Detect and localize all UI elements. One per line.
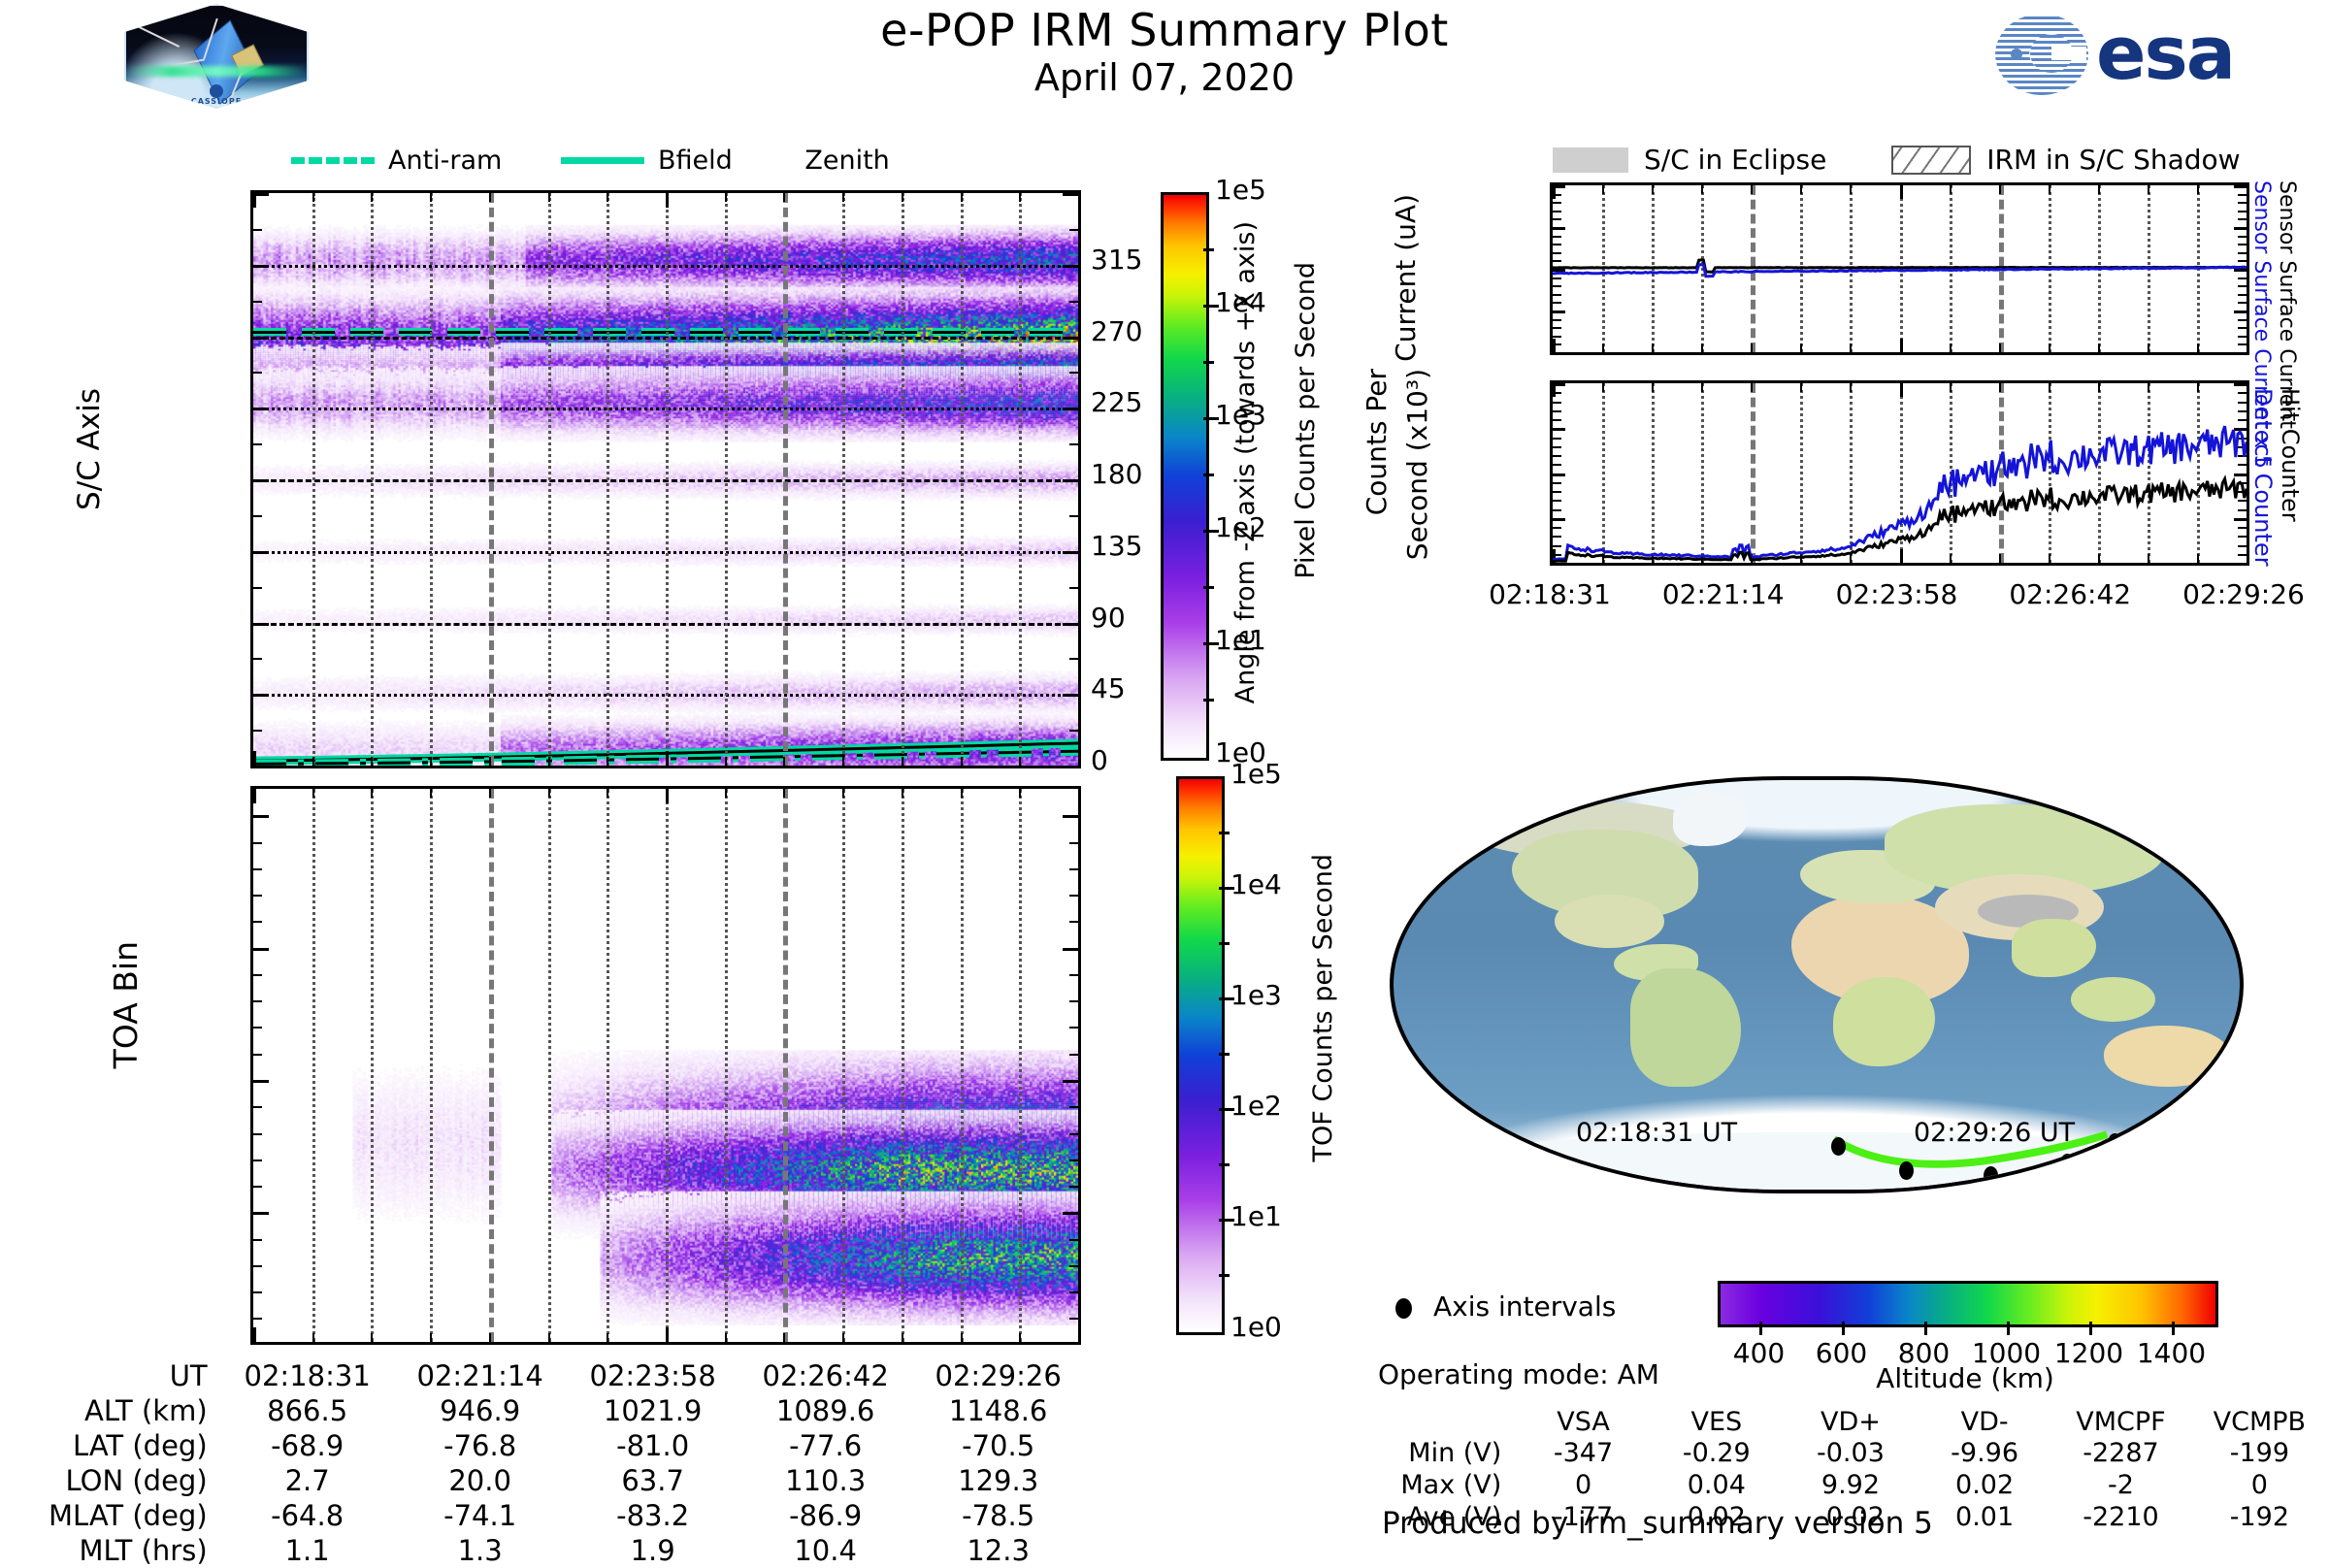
table-cell: -76.8 xyxy=(394,1428,567,1463)
table-cell: -68.9 xyxy=(221,1428,394,1463)
axis-tick xyxy=(253,1327,256,1342)
axis-tick xyxy=(1063,551,1078,554)
hatched-fill-icon xyxy=(1891,146,1971,175)
grid-line xyxy=(430,193,433,766)
table-cell: -2210 xyxy=(2051,1501,2190,1533)
counts-ylabel-2: Second (x10³) xyxy=(1401,369,1433,560)
axis-tick xyxy=(548,789,550,798)
table-cell: 1.9 xyxy=(567,1533,739,1568)
table-cell: -86.9 xyxy=(739,1498,912,1533)
altitude-tick xyxy=(1842,1322,1845,1335)
axis-tick xyxy=(1063,337,1078,340)
axis-tick-minor xyxy=(1069,372,1078,374)
axis-tick xyxy=(783,757,785,766)
table-row: UT02:18:3102:21:1402:23:5802:26:4202:29:… xyxy=(49,1358,1085,1393)
axis-tick xyxy=(430,789,432,798)
pixel-colorbar-tick-label: 1e1 xyxy=(1215,624,1266,656)
altitude-colorbar-title: Altitude (km) xyxy=(1718,1362,2213,1394)
axis-tick xyxy=(1019,757,1021,766)
grid-line xyxy=(666,193,669,766)
grid-line xyxy=(842,193,845,766)
grid-line xyxy=(312,789,315,1342)
table-cell: -2287 xyxy=(2051,1437,2190,1469)
axis-tick-minor xyxy=(1069,229,1078,231)
esa-wordmark: esa xyxy=(2096,10,2234,96)
table-cell: 2.7 xyxy=(221,1463,394,1498)
table-cell: 02:23:58 xyxy=(567,1358,739,1393)
colorbar-tick-minor xyxy=(1219,832,1230,834)
row-label: MLAT (deg) xyxy=(49,1498,221,1533)
dashed-line-icon xyxy=(291,157,375,164)
colorbar-tick xyxy=(1203,305,1219,308)
axis-tick-minor xyxy=(253,868,262,870)
axis-tick-minor xyxy=(1069,443,1078,445)
colorbar-tick xyxy=(1219,1108,1234,1111)
colorbar-tick xyxy=(1203,530,1219,533)
orbit-track xyxy=(1394,780,2240,1190)
table-cell: -77.6 xyxy=(739,1428,912,1463)
axis-tick-minor xyxy=(253,1186,262,1188)
axis-tick xyxy=(253,948,269,951)
column-header: VCMPB xyxy=(2190,1407,2329,1437)
axis-tick-minor xyxy=(1069,1239,1078,1241)
axis-tick xyxy=(842,193,844,202)
legend-label: Zenith xyxy=(804,146,889,176)
track-point xyxy=(1831,1137,1846,1156)
axis-tick xyxy=(666,1327,669,1342)
axis-tick xyxy=(1019,1333,1021,1342)
page-subtitle: April 07, 2020 xyxy=(0,56,2329,99)
table-cell: 20.0 xyxy=(394,1463,567,1498)
grid-line xyxy=(783,193,788,766)
axis-tick xyxy=(548,1333,550,1342)
produced-by-footer: Produced by irm_summary version 5 xyxy=(1382,1506,1933,1541)
row-label: MLT (hrs) xyxy=(49,1533,221,1568)
axis-tick-minor xyxy=(1069,301,1078,303)
row-label: UT xyxy=(49,1358,221,1393)
axis-tick-minor xyxy=(253,1000,262,1002)
axis-tick xyxy=(783,789,785,798)
table-cell: 63.7 xyxy=(567,1463,739,1498)
axis-tick xyxy=(1063,408,1078,410)
grid-line xyxy=(548,789,551,1342)
axis-tick xyxy=(842,757,844,766)
axis-tick xyxy=(253,479,269,482)
axis-tick-minor xyxy=(1069,1000,1078,1002)
colorbar-tick-minor xyxy=(1219,1053,1230,1056)
ephemeris-table: UT02:18:3102:21:1402:23:5802:26:4202:29:… xyxy=(49,1358,1085,1568)
axis-tick xyxy=(430,1333,432,1342)
table-row: MLAT (deg)-64.8-74.1-83.2-86.9-78.5 xyxy=(49,1498,1085,1533)
axis-tick xyxy=(1063,1212,1078,1215)
tof-colorbar-tick-label: 1e1 xyxy=(1230,1200,1282,1232)
axis-tick-minor xyxy=(1069,1133,1078,1135)
axis-tick xyxy=(725,1333,727,1342)
colorbar-tick-minor xyxy=(1219,1163,1230,1166)
axis-tick xyxy=(489,789,491,798)
axis-tick xyxy=(548,757,550,766)
legend-label: IRM in S/C Shadow xyxy=(1986,144,2240,176)
series-plot xyxy=(1553,383,2247,563)
axis-tick xyxy=(253,337,269,340)
table-cell: -2 xyxy=(2051,1469,2190,1501)
axis-tick xyxy=(1063,193,1078,196)
colorbar-tick xyxy=(1203,642,1219,645)
axis-tick xyxy=(1063,948,1078,951)
counts-ylabel-line2: Second (x10³) xyxy=(1401,369,1433,560)
axis-tick xyxy=(1063,623,1078,626)
tof-counts-colorbar-title: TOF Counts per Second xyxy=(1308,854,1338,1162)
axis-tick-minor xyxy=(253,1265,262,1267)
table-cell: -78.5 xyxy=(912,1498,1085,1533)
table-cell: -81.0 xyxy=(567,1428,739,1463)
colorbar-tick xyxy=(1219,1219,1234,1222)
axis-tick-minor xyxy=(253,658,262,660)
table-cell: 1.3 xyxy=(394,1533,567,1568)
axis-tick-minor xyxy=(253,301,262,303)
axis-tick xyxy=(1019,193,1021,202)
axis-tick xyxy=(1063,1080,1078,1083)
axis-tick xyxy=(666,751,669,766)
axis-tick-minor xyxy=(1069,1265,1078,1267)
axis-tick-minor xyxy=(253,1318,262,1320)
grid-line xyxy=(371,789,374,1342)
axis-tick xyxy=(312,757,314,766)
axis-tick xyxy=(312,193,314,202)
altitude-tick xyxy=(1759,1322,1762,1335)
axis-tick xyxy=(1019,789,1021,798)
axis-tick xyxy=(607,757,608,766)
axis-tick xyxy=(783,1333,785,1342)
axis-tick-minor xyxy=(1069,1106,1078,1108)
grid-line xyxy=(607,789,609,1342)
grid-line xyxy=(902,193,904,766)
axis-tick xyxy=(1078,193,1081,208)
colorbar-tick-minor xyxy=(1203,248,1214,251)
axis-overlay-legend: Anti-ram Bfield Zenith xyxy=(291,144,940,176)
eclipse-shadow-legend: S/C in Eclipse IRM in S/C Shadow xyxy=(1553,142,2297,176)
angle-axis-tick-label: 45 xyxy=(1091,672,1126,704)
axis-tick xyxy=(725,789,727,798)
logo-wordmark: CASSIOPE xyxy=(126,97,307,106)
axis-tick xyxy=(725,193,727,202)
axis-tick-minor xyxy=(253,229,262,231)
axis-tick xyxy=(961,1333,963,1342)
axis-tick-minor xyxy=(253,921,262,923)
axis-tick xyxy=(253,623,269,626)
axis-tick xyxy=(842,1333,844,1342)
table-cell: 02:29:26 xyxy=(912,1358,1085,1393)
grid-line xyxy=(548,193,551,766)
table-cell: -64.8 xyxy=(221,1498,394,1533)
table-row: MLT (hrs)1.11.31.910.412.3 xyxy=(49,1533,1085,1568)
counts-xtick-label: 02:23:58 xyxy=(1836,578,1958,610)
table-cell: 0.04 xyxy=(1650,1469,1784,1501)
axis-tick-minor xyxy=(253,1133,262,1135)
angle-axis-tick-label: 0 xyxy=(1091,744,1108,776)
axis-tick xyxy=(253,789,256,803)
sc-axis-ylabel: S/C Axis xyxy=(72,388,107,510)
axis-tick xyxy=(2234,563,2247,566)
toa-bin-spectrogram-panel[interactable] xyxy=(250,786,1081,1345)
axis-tick-minor xyxy=(253,1239,262,1241)
axis-tick xyxy=(725,757,727,766)
legend-label: Anti-ram xyxy=(388,146,502,176)
axis-tick xyxy=(489,1333,491,1342)
angle-axis-tick-label: 180 xyxy=(1091,458,1142,490)
grid-line xyxy=(607,193,609,766)
colorbar-tick xyxy=(1219,997,1234,1000)
axis-tick-minor xyxy=(253,1160,262,1161)
axis-tick xyxy=(607,789,608,798)
track-point xyxy=(1899,1161,1914,1180)
row-label: LAT (deg) xyxy=(49,1428,221,1463)
axis-tick xyxy=(253,694,269,697)
axis-tick xyxy=(1078,751,1081,766)
table-cell: 0 xyxy=(1517,1469,1649,1501)
grid-line xyxy=(430,789,433,1342)
legend-item-irm-shadow: IRM in S/C Shadow xyxy=(1891,143,2240,177)
tof-colorbar-tick-label: 1e2 xyxy=(1230,1090,1282,1122)
counts-ylabel: Counts Per xyxy=(1362,369,1392,515)
grid-line xyxy=(902,789,904,1342)
axis-tick xyxy=(902,1333,903,1342)
axis-tick xyxy=(1078,789,1081,803)
legend-item-sc-eclipse: S/C in Eclipse xyxy=(1553,143,1826,177)
axis-tick-minor xyxy=(253,974,262,976)
legend-label: S/C in Eclipse xyxy=(1644,144,1826,176)
axis-tick-minor xyxy=(253,587,262,589)
table-cell: -199 xyxy=(2190,1437,2329,1469)
axis-tick xyxy=(253,408,269,410)
axis-tick-minor xyxy=(1069,842,1078,844)
axis-tick xyxy=(253,551,269,554)
sc-axis-spectrogram-panel[interactable] xyxy=(250,190,1081,768)
table-cell: 110.3 xyxy=(739,1463,912,1498)
axis-tick xyxy=(1063,815,1078,818)
angle-axis-tick-label: 270 xyxy=(1091,315,1142,347)
axis-tick xyxy=(2234,352,2247,355)
map-legend-axis-intervals: Axis intervals xyxy=(1395,1290,1616,1323)
toa-bin-ylabel: TOA Bin xyxy=(107,941,145,1068)
axis-tick-minor xyxy=(1069,587,1078,589)
tof-counts-colorbar xyxy=(1176,776,1225,1335)
axis-tick-minor xyxy=(1069,895,1078,897)
axis-tick-minor xyxy=(1069,658,1078,660)
page-title: e-POP IRM Summary Plot xyxy=(0,4,2329,56)
legend-item-anti-ram: Anti-ram xyxy=(291,145,502,176)
axis-tick-minor xyxy=(1069,1291,1078,1293)
table-cell: 129.3 xyxy=(912,1463,1085,1498)
table-cell: 0 xyxy=(2190,1469,2329,1501)
axis-tick xyxy=(371,757,373,766)
axis-tick-minor xyxy=(253,1027,262,1029)
axis-tick-minor xyxy=(253,895,262,897)
axis-tick xyxy=(1063,265,1078,268)
axis-tick-minor xyxy=(253,730,262,732)
pixel-colorbar-tick-label: 1e2 xyxy=(1215,511,1266,543)
counts-xtick-label: 02:29:26 xyxy=(2182,578,2305,610)
current-ylabel: Current (uA) xyxy=(1390,194,1422,362)
axis-tick xyxy=(902,789,903,798)
axis-tick xyxy=(548,193,550,202)
grid-line xyxy=(312,193,315,766)
counts-xtick-label: 02:18:31 xyxy=(1489,578,1611,610)
axis-tick-minor xyxy=(1069,1054,1078,1056)
column-header: VSA xyxy=(1517,1407,1649,1437)
column-header: VD+ xyxy=(1784,1407,1918,1437)
solid-line-icon xyxy=(561,157,644,164)
track-point xyxy=(1984,1166,1998,1185)
row-label: LON (deg) xyxy=(49,1463,221,1498)
axis-tick xyxy=(961,757,963,766)
grid-line xyxy=(1019,193,1022,766)
altitude-tick xyxy=(2172,1322,2175,1335)
track-point xyxy=(2060,1154,2075,1172)
legend-item-bfield: Bfield xyxy=(561,145,733,176)
axis-tick xyxy=(1553,563,1565,566)
column-header: VD- xyxy=(1918,1407,2051,1437)
table-cell: 02:21:14 xyxy=(394,1358,567,1393)
tof-colorbar-tick-label: 1e4 xyxy=(1230,868,1282,900)
axis-tick xyxy=(1063,766,1078,768)
axis-tick xyxy=(253,265,269,268)
table-cell: 866.5 xyxy=(221,1393,394,1428)
series-plot xyxy=(1553,185,2247,352)
axis-tick-minor xyxy=(253,842,262,844)
grid-line xyxy=(842,789,845,1342)
legend-item-zenith: Zenith xyxy=(791,145,889,176)
axis-tick xyxy=(902,757,903,766)
table-cell: 1089.6 xyxy=(739,1393,912,1428)
table-cell: 0.01 xyxy=(1918,1501,2051,1533)
grey-fill-icon xyxy=(1553,147,1628,173)
axis-tick-minor xyxy=(1069,1186,1078,1188)
axis-tick xyxy=(253,1342,269,1345)
esa-logo: esa xyxy=(1991,8,2282,101)
grid-line xyxy=(725,789,728,1342)
colorbar-tick-minor xyxy=(1203,474,1214,476)
table-cell: 0.02 xyxy=(1918,1469,2051,1501)
axis-tick xyxy=(312,1333,314,1342)
table-cell: 9.92 xyxy=(1784,1469,1918,1501)
grid-line xyxy=(725,193,728,766)
counts-xtick-label: 02:21:14 xyxy=(1662,578,1785,610)
axis-tick xyxy=(371,1333,373,1342)
table-cell: 946.9 xyxy=(394,1393,567,1428)
counts-right-caption-blue: Detect Counter xyxy=(2249,388,2277,567)
track-end-label: 02:29:26 UT xyxy=(1914,1118,2075,1148)
altitude-tick xyxy=(1924,1322,1927,1335)
grid-line xyxy=(489,193,494,766)
column-header: VMCPF xyxy=(2051,1407,2190,1437)
table-cell: -0.03 xyxy=(1784,1437,1918,1469)
axis-tick-minor xyxy=(253,1291,262,1293)
pixel-colorbar-tick-label: 1e3 xyxy=(1215,399,1266,431)
grid-line xyxy=(1019,789,1022,1342)
pixel-colorbar-tick-label: 1e5 xyxy=(1215,174,1266,206)
operating-mode-text: Operating mode: AM xyxy=(1378,1358,1659,1390)
axis-tick xyxy=(312,789,314,798)
table-cell: 12.3 xyxy=(912,1533,1085,1568)
axis-tick-minor xyxy=(253,1106,262,1108)
table-row: Min (V)-347-0.29-0.03-9.96-2287-199 xyxy=(1388,1437,2329,1469)
axis-tick xyxy=(1553,352,1565,355)
axis-tick xyxy=(430,757,432,766)
axis-tick-minor xyxy=(1069,730,1078,732)
table-cell: 1148.6 xyxy=(912,1393,1085,1428)
cassiope-mission-logo: CASSIOPE xyxy=(124,4,309,109)
table-row: Max (V)00.049.920.02-20 xyxy=(1388,1469,2329,1501)
grid-line xyxy=(666,789,669,1342)
pixel-counts-colorbar-title: Pixel Counts per Second xyxy=(1291,262,1321,579)
tof-colorbar-tick-label: 1e5 xyxy=(1230,758,1282,790)
axis-tick-minor xyxy=(253,515,262,517)
colorbar-tick-minor xyxy=(1203,361,1214,364)
angle-axis-tick-label: 315 xyxy=(1091,244,1142,276)
axis-tick xyxy=(430,193,432,202)
column-header: VES xyxy=(1650,1407,1784,1437)
counts-panel[interactable] xyxy=(1550,380,2249,566)
colorbar-tick-minor xyxy=(1219,942,1230,945)
table-row: LAT (deg)-68.9-76.8-81.0-77.6-70.5 xyxy=(49,1428,1085,1463)
axis-tick xyxy=(253,751,256,766)
table-cell: 02:18:31 xyxy=(221,1358,394,1393)
current-panel[interactable] xyxy=(1550,182,2249,355)
axis-tick xyxy=(666,193,669,208)
axis-tick-minor xyxy=(253,1054,262,1056)
table-cell: 02:26:42 xyxy=(739,1358,912,1393)
corner-cell xyxy=(1388,1407,1517,1437)
axis-tick-minor xyxy=(1069,515,1078,517)
axis-tick xyxy=(607,193,608,202)
altitude-colorbar xyxy=(1718,1281,2218,1327)
axis-tick-minor xyxy=(253,443,262,445)
row-label: Min (V) xyxy=(1388,1437,1517,1469)
colorbar-tick-minor xyxy=(1219,1274,1230,1277)
axis-tick xyxy=(1063,479,1078,482)
axis-tick xyxy=(371,193,373,202)
angle-axis-tick-label: 225 xyxy=(1091,386,1142,418)
table-row: ALT (km)866.5946.91021.91089.61148.6 xyxy=(49,1393,1085,1428)
axis-tick xyxy=(489,757,491,766)
axis-tick xyxy=(489,193,491,202)
ground-track-map[interactable]: 02:18:31 UT 02:29:26 UT xyxy=(1390,776,2244,1193)
axis-tick xyxy=(253,815,269,818)
grid-line xyxy=(961,193,964,766)
axis-tick xyxy=(961,193,963,202)
axis-tick-minor xyxy=(1069,1160,1078,1161)
tof-colorbar-tick-label: 1e3 xyxy=(1230,979,1282,1011)
map-legend-label: Axis intervals xyxy=(1433,1290,1616,1323)
grid-line xyxy=(371,193,374,766)
row-label: ALT (km) xyxy=(49,1393,221,1428)
track-start-label: 02:18:31 UT xyxy=(1576,1118,1737,1148)
axis-tick-minor xyxy=(1069,974,1078,976)
table-cell: -0.29 xyxy=(1650,1437,1784,1469)
axis-tick xyxy=(253,1212,269,1215)
row-label: Max (V) xyxy=(1388,1469,1517,1501)
axis-tick-minor xyxy=(253,372,262,374)
axis-tick xyxy=(253,766,269,768)
colorbar-tick xyxy=(1203,417,1219,420)
table-cell: -74.1 xyxy=(394,1498,567,1533)
altitude-tick xyxy=(2089,1322,2092,1335)
axis-tick xyxy=(253,193,256,208)
colorbar-tick-minor xyxy=(1203,699,1214,702)
dot-marker-icon xyxy=(1395,1298,1412,1319)
axis-tick xyxy=(902,193,903,202)
